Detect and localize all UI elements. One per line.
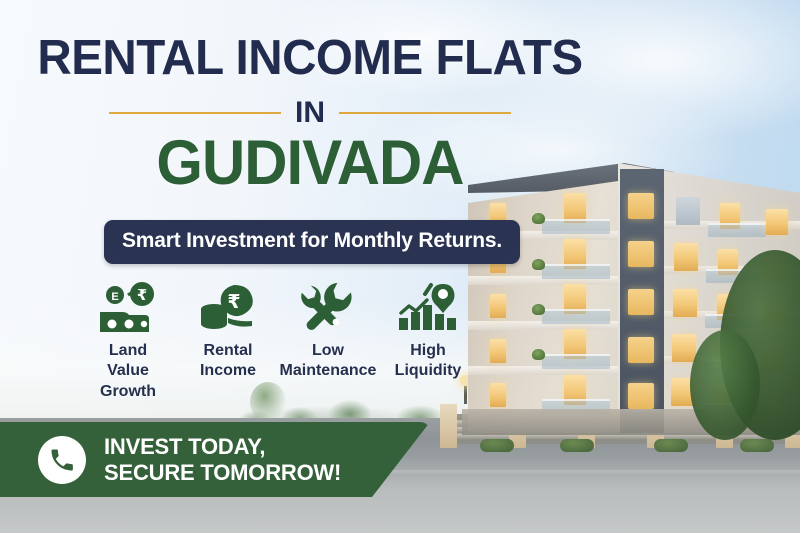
- svg-text:₹: ₹: [227, 291, 240, 313]
- feature-label: Rental Income: [200, 341, 256, 382]
- subtitle-banner: Smart Investment for Monthly Returns.: [104, 220, 520, 264]
- cash-rupee-icon: E ₹: [98, 278, 158, 332]
- cta-text: INVEST TODAY, SECURE TOMORROW!: [104, 434, 341, 486]
- feature-label: Land Value Growth: [100, 341, 156, 402]
- cta-line-2: SECURE TOMORROW!: [104, 460, 341, 486]
- features-row: E ₹ Land Value Growth: [78, 278, 478, 402]
- feature-land-value-growth: E ₹ Land Value Growth: [78, 278, 178, 402]
- divider-left: [109, 112, 281, 114]
- phone-icon[interactable]: [38, 436, 86, 484]
- subtitle-text: Smart Investment for Monthly Returns.: [122, 229, 502, 252]
- poster-canvas: RENTAL INCOME FLATS IN GUDIVADA Smart In…: [0, 0, 800, 533]
- divider-right: [339, 112, 511, 114]
- connector-word: IN: [295, 96, 325, 130]
- feature-high-liquidity: High Liquidity: [378, 278, 478, 402]
- foreground-shrub: [690, 330, 760, 440]
- feature-label: Low Maintenance: [280, 341, 377, 382]
- feature-rental-income: ₹ Rental Income: [178, 278, 278, 402]
- growth-chart-pin-icon: [397, 278, 459, 332]
- connector-row: IN: [0, 96, 620, 130]
- feature-label: High Liquidity: [395, 341, 462, 382]
- svg-text:₹: ₹: [137, 286, 147, 304]
- wrench-tools-icon: [299, 278, 357, 332]
- cta-content[interactable]: INVEST TODAY, SECURE TOMORROW!: [0, 422, 430, 497]
- city-name: GUDIVADA: [16, 132, 605, 195]
- cta-line-1: INVEST TODAY,: [104, 434, 341, 460]
- svg-text:E: E: [111, 291, 118, 303]
- feature-low-maintenance: Low Maintenance: [278, 278, 378, 402]
- coins-rupee-icon: ₹: [198, 278, 258, 332]
- page-title: RENTAL INCOME FLATS: [9, 34, 610, 83]
